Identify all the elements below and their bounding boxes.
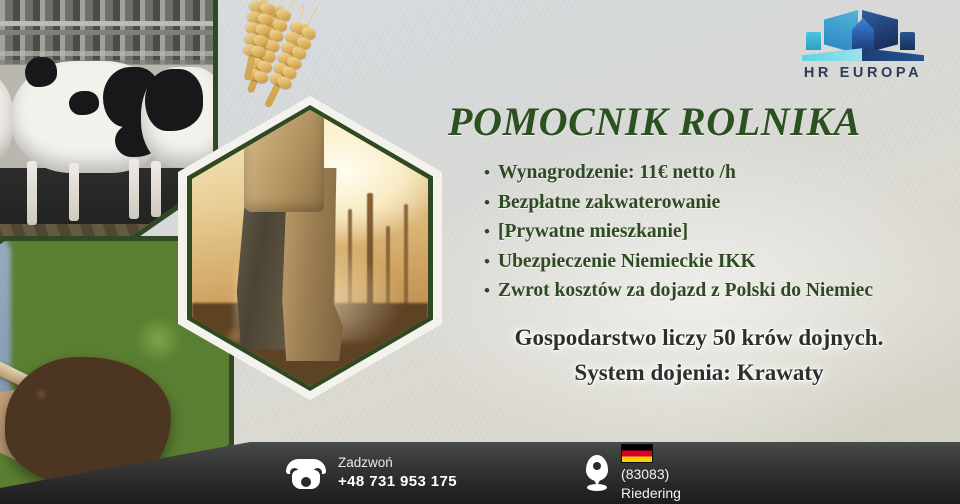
farm-size-text: Gospodarstwo liczy 50 krów dojnych. xyxy=(448,325,950,351)
list-item: • Wynagrodzenie: 11€ netto /h xyxy=(484,162,954,184)
location-block[interactable]: (83083) Riedering xyxy=(583,444,681,501)
phone-number[interactable]: +48 731 953 175 xyxy=(338,472,457,492)
map-pin-icon xyxy=(583,455,611,491)
brand-name: HR EUROPA xyxy=(788,65,938,81)
farm-details: Gospodarstwo liczy 50 krów dojnych. Syst… xyxy=(448,325,950,386)
bullet-marker: • xyxy=(484,194,498,211)
bullet-marker: • xyxy=(484,253,498,270)
benefit-text: Ubezpieczenie Niemieckie IKK xyxy=(498,251,756,273)
bullet-marker: • xyxy=(484,164,498,181)
list-item: • [Prywatne mieszkanie] xyxy=(484,221,954,243)
telephone-icon xyxy=(286,457,326,489)
milking-system-text: System dojenia: Krawaty xyxy=(448,360,950,386)
open-book-logo-icon xyxy=(802,6,924,62)
photo-wheat-ears xyxy=(222,0,412,116)
benefit-text: Wynagrodzenie: 11€ netto /h xyxy=(498,162,736,184)
page-title: POMOCNIK ROLNIKA xyxy=(448,98,948,145)
postal-code: (83083) xyxy=(621,465,681,483)
benefits-list: • Wynagrodzenie: 11€ netto /h • Bezpłatn… xyxy=(484,162,954,310)
bullet-marker: • xyxy=(484,223,498,240)
city-name: Riedering xyxy=(621,484,681,502)
benefit-text: [Prywatne mieszkanie] xyxy=(498,221,688,243)
call-label: Zadzwoń xyxy=(338,454,457,472)
brand-logo: HR EUROPA xyxy=(788,6,938,81)
call-contact-block[interactable]: Zadzwoń +48 731 953 175 xyxy=(286,454,457,492)
list-item: • Bezpłatne zakwaterowanie xyxy=(484,192,954,214)
benefit-text: Bezpłatne zakwaterowanie xyxy=(498,192,720,214)
job-advertisement-poster: HR EUROPA POMOCNIK ROLNIKA • Wynagrodzen… xyxy=(0,0,960,504)
bullet-marker: • xyxy=(484,282,498,299)
german-flag-icon xyxy=(621,444,653,463)
benefit-text: Zwrot kosztów za dojazd z Polski do Niem… xyxy=(498,280,873,302)
photo-collage xyxy=(0,0,452,504)
contact-bar-content: Zadzwoń +48 731 953 175 (83083) Riederin… xyxy=(0,442,960,504)
list-item: • Ubezpieczenie Niemieckie IKK xyxy=(484,251,954,273)
list-item: • Zwrot kosztów za dojazd z Polski do Ni… xyxy=(484,280,954,302)
